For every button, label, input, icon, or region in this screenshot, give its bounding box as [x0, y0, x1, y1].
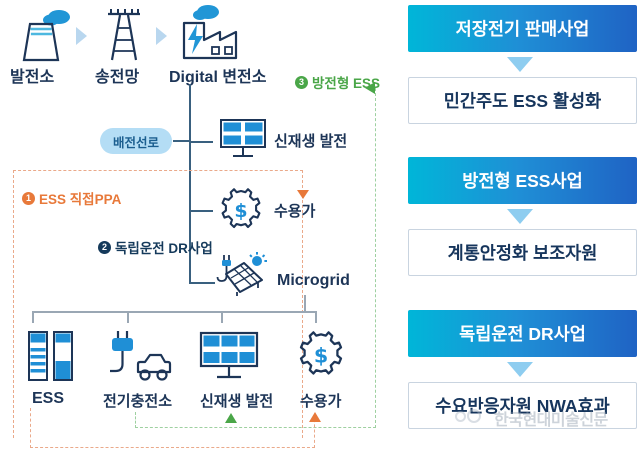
flow-chevron-icon: [156, 27, 167, 45]
discharge-ess-path: [375, 88, 376, 428]
solar-panel-icon: [218, 117, 268, 168]
marker-number: 3: [295, 76, 308, 89]
battery-icon: [22, 328, 80, 389]
distribution-line-badge: 배전선로: [100, 128, 172, 154]
node-label-ev-station: 전기충전소: [103, 390, 172, 411]
flow-chevron-icon: [76, 27, 87, 45]
node-label-substation: Digital 변전소: [169, 63, 267, 87]
gear-dollar-icon: $: [296, 330, 346, 385]
bracket-tick: [315, 311, 317, 323]
marker-label: 독립운전 DR사업: [115, 237, 213, 257]
node-label-consumer-2: 수용가: [300, 390, 341, 411]
digital-substation-icon: [176, 3, 244, 70]
gear-dollar-icon: $: [218, 187, 264, 238]
bracket-tick: [32, 311, 34, 323]
bracket-stem: [304, 295, 306, 312]
green-left-arrow-icon: [365, 82, 375, 94]
branch-line: [189, 210, 213, 212]
bracket-tick: [127, 311, 129, 323]
outcome-box-discharge-ess-business[interactable]: 방전형 ESS사업: [408, 157, 637, 204]
marker-number: 2: [98, 241, 111, 254]
node-label-renewable-1: 신재생 발전: [274, 130, 347, 151]
bracket-horizontal: [32, 311, 317, 313]
marker-ess-direct-ppa: 1 ESS 직접PPA: [22, 188, 121, 208]
down-arrow-icon: [507, 209, 533, 224]
svg-text:$: $: [234, 200, 247, 222]
power-plant-icon: [12, 6, 74, 69]
ess-ppa-return-riser: [30, 408, 31, 448]
orange-down-arrow-icon: [297, 190, 309, 199]
node-label-transmission: 송전망: [95, 63, 139, 87]
node-label-power-plant: 발전소: [10, 63, 54, 87]
node-label-microgrid: Microgrid: [277, 272, 350, 290]
discharge-ess-path-bottom: [135, 427, 376, 428]
branch-line: [189, 141, 213, 143]
outcome-box-grid-stabilization[interactable]: 계통안정화 보조자원: [408, 229, 637, 276]
branch-line: [189, 282, 215, 284]
node-label-consumer-1: 수용가: [274, 200, 315, 221]
orange-up-arrow-icon: [309, 412, 321, 422]
transmission-tower-icon: [96, 6, 152, 69]
marker-number: 1: [22, 192, 35, 205]
bracket-tick: [221, 311, 223, 323]
marker-label: ESS 직접PPA: [39, 188, 121, 208]
discharge-ess-path-riser: [135, 412, 136, 428]
outcome-box-private-ess[interactable]: 민간주도 ESS 활성화: [408, 77, 637, 124]
node-label-renewable-2: 신재생 발전: [200, 390, 273, 411]
badge-connector-line: [173, 140, 191, 142]
outcome-box-stored-power-sales[interactable]: 저장전기 판매사업: [408, 5, 637, 52]
microgrid-icon: [214, 252, 272, 301]
ess-ppa-return-path: [30, 447, 315, 448]
node-label-ess: ESS: [32, 390, 64, 408]
green-up-arrow-icon: [225, 413, 237, 423]
network-diagram: 발전소 송전망 Digital 변전소 3 방전형 ESS 신재생 발전 배전선…: [0, 0, 400, 458]
down-arrow-icon: [507, 57, 533, 72]
svg-text:$: $: [314, 344, 328, 368]
down-arrow-icon: [507, 362, 533, 377]
outcome-box-islanded-dr-business[interactable]: 독립운전 DR사업: [408, 310, 637, 357]
ev-charger-icon: [104, 330, 174, 389]
solar-panel-icon: [198, 330, 260, 389]
marker-islanded-dr: 2 독립운전 DR사업: [98, 237, 213, 257]
business-outcomes-panel: 저장전기 판매사업 민간주도 ESS 활성화 방전형 ESS사업 계통안정화 보…: [404, 0, 641, 458]
outcome-box-demand-response-nwa[interactable]: 수요반응자원 NWA효과: [408, 382, 637, 429]
